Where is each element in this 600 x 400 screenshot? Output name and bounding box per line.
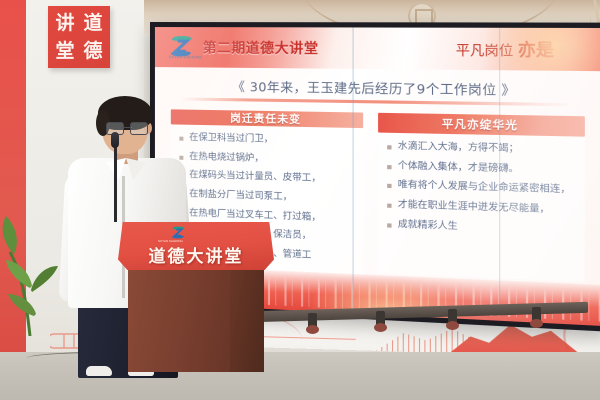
slide-header-band: SUYAN KAIHONG 第二期道德大讲堂 平凡岗位 亦是 初心 <box>155 27 600 71</box>
bullet-text: 唯有将个人发展与企业命运紧密相连， <box>398 180 571 197</box>
list-item: ▪个体融入集体，才是磅礴。 <box>387 161 581 178</box>
stand-caster <box>308 313 317 329</box>
plaque-char-1: 讲 <box>55 14 74 33</box>
stand-caster <box>376 311 385 327</box>
list-item: ▪才能在职业生涯中迸发无尽能量， <box>387 199 581 217</box>
podium-logo-icon <box>170 226 187 239</box>
bullet-dot-icon: ▪ <box>387 219 393 231</box>
bullet-dot-icon: ▪ <box>387 199 393 211</box>
podium-title: 道德大讲堂 <box>118 242 274 267</box>
list-item: ▪水滴汇入大海，方得不竭； <box>387 141 581 157</box>
slide-tagline: 平凡岗位 亦是 初心 <box>456 35 585 61</box>
slide-title: 第二期道德大讲堂 <box>203 36 319 57</box>
list-item: ▪成就精彩人生 <box>387 219 581 238</box>
bullet-text: 在制盐分厂当过司泵工， <box>189 189 292 204</box>
bullet-text: 才能在职业生涯中迸发无尽能量， <box>398 200 550 217</box>
conference-room-scene: 讲 道 堂 德 <box>0 0 600 400</box>
slide-column-right: 平凡亦绽华光 ▪水滴汇入大海，方得不竭； ▪个体融入集体，才是磅礴。 ▪唯有将个… <box>378 113 585 282</box>
bullet-text: 个体融入集体，才是磅礴。 <box>398 161 519 176</box>
plaque-char-0: 道 <box>83 14 102 33</box>
suyan-kaihong-logo-icon <box>169 35 195 57</box>
plaque-char-2: 德 <box>83 42 102 61</box>
bullet-dot-icon: ▪ <box>387 161 393 173</box>
slide-logo-caption: SUYAN KAIHONG <box>169 55 203 59</box>
column-body-right: ▪水滴汇入大海，方得不竭； ▪个体融入集体，才是磅礴。 ▪唯有将个人发展与企业命… <box>378 133 585 282</box>
stand-caster <box>448 309 457 325</box>
list-item: ▪在煤码头当过计量员、皮带工， <box>179 170 359 187</box>
microphone <box>112 126 118 222</box>
plaque-char-3: 堂 <box>55 42 74 61</box>
stand-caster <box>532 307 541 323</box>
podium: SUYAN KAIHONG 道德大讲堂 <box>118 222 274 372</box>
screen-panel-seam-2 <box>499 28 500 321</box>
wall-plaque-daode-jiangtang: 讲 道 堂 德 <box>48 6 110 68</box>
list-item: ▪在制盐分厂当过司泵工， <box>179 189 359 206</box>
tagline-suffix: 初心 <box>559 44 585 59</box>
screen-panel-seam <box>353 27 354 313</box>
bullet-dot-icon: ▪ <box>387 180 393 192</box>
bullet-text: 在煤码头当过计量员、皮带工， <box>189 170 321 185</box>
bullet-text: 水滴汇入大海，方得不竭； <box>398 141 519 156</box>
speaker-shoe <box>86 366 112 376</box>
tagline-prefix: 平凡岗位 <box>456 43 514 59</box>
bullet-dot-icon: ▪ <box>387 141 393 153</box>
list-item: ▪在热电烧过锅炉， <box>179 151 359 167</box>
microphone-stem <box>114 142 117 222</box>
tagline-emphasis: 亦是 <box>518 40 554 61</box>
microphone-head-icon <box>111 132 119 148</box>
bullet-text: 成就精彩人生 <box>398 219 458 233</box>
podium-body-side <box>230 266 264 372</box>
podium-front-panel: SUYAN KAIHONG 道德大讲堂 <box>118 222 274 270</box>
list-item: ▪唯有将个人发展与企业命运紧密相连， <box>387 180 581 197</box>
list-item: ▪在保卫科当过门卫， <box>179 133 359 148</box>
